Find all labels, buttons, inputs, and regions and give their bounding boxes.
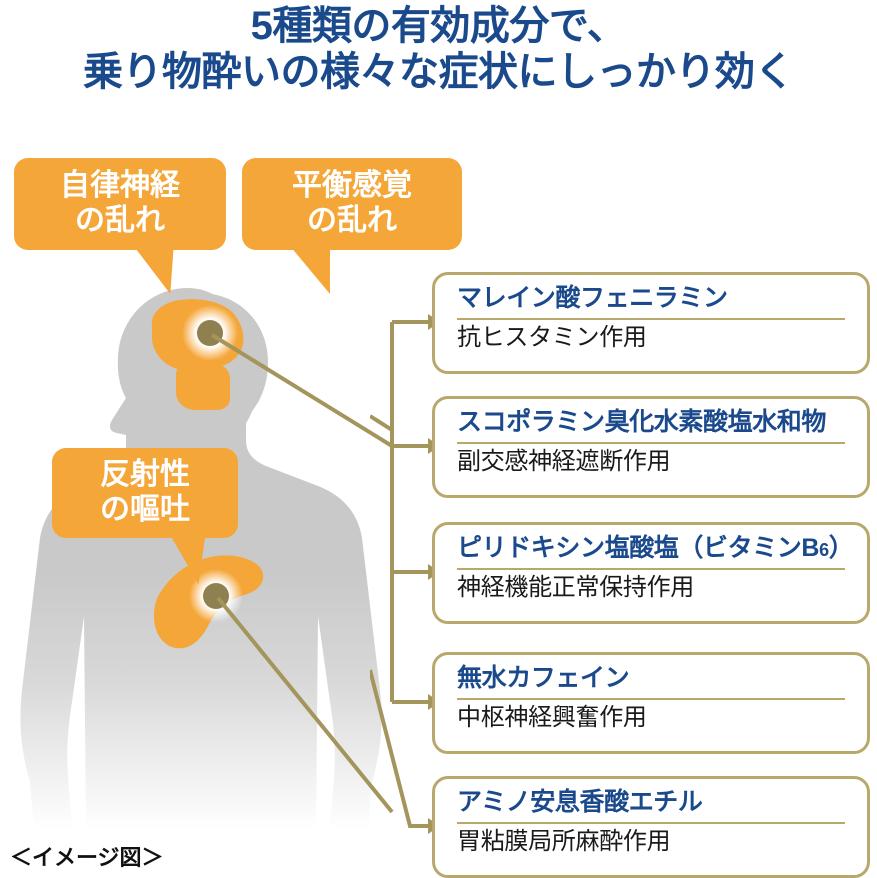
image-disclaimer-note: ＜イメージ図＞ bbox=[10, 840, 164, 872]
ingredient-name-1: マレイン酸フェニラミン bbox=[457, 284, 851, 314]
bubble-balance-sense-disorder: 平衡感覚 の乱れ bbox=[242, 158, 462, 250]
bubble-autonomic-line-2: の乱れ bbox=[75, 204, 165, 239]
card-divider-5 bbox=[457, 822, 845, 824]
brain-marker-dot bbox=[197, 320, 223, 346]
ingredient-name-2: スコポラミン臭化水素酸塩水和物 bbox=[457, 408, 851, 438]
ingredient-name-3-prefix: ピリドキシン塩酸塩（ビタミンB bbox=[457, 534, 819, 562]
card-divider-2 bbox=[457, 442, 845, 444]
ingredient-name-5: アミノ安息香酸エチル bbox=[457, 788, 851, 818]
infographic-root: 5種類の有効成分で、 乗り物酔いの様々な症状にしっかり効く bbox=[0, 0, 877, 877]
ingredient-effect-2: 副交感神経遮断作用 bbox=[457, 448, 851, 477]
ingredient-card-3: ピリドキシン塩酸塩（ビタミンB6） 神経機能正常保持作用 bbox=[432, 522, 870, 624]
card-divider-4 bbox=[457, 698, 845, 700]
ingredient-effect-1: 抗ヒスタミン作用 bbox=[457, 324, 851, 353]
ingredient-name-3: ピリドキシン塩酸塩（ビタミンB6） bbox=[457, 534, 851, 564]
bubble-vomit-line-2: の嘔吐 bbox=[100, 493, 190, 528]
bubble-autonomic-nerve-disorder: 自律神経 の乱れ bbox=[14, 158, 226, 250]
ingredient-effect-4: 中枢神経興奮作用 bbox=[457, 704, 851, 733]
ingredient-card-5: アミノ安息香酸エチル 胃粘膜局所麻酔作用 bbox=[432, 776, 870, 878]
ingredient-name-3-suffix: ） bbox=[829, 534, 854, 562]
page-title: 5種類の有効成分で、 乗り物酔いの様々な症状にしっかり効く bbox=[0, 4, 877, 95]
title-line-2: 乗り物酔いの様々な症状にしっかり効く bbox=[0, 50, 877, 96]
bubble-balance-line-2: の乱れ bbox=[307, 204, 397, 239]
title-line-1: 5種類の有効成分で、 bbox=[0, 4, 877, 50]
bubble-vomit-tail bbox=[162, 534, 205, 584]
ingredient-name-3-subscript: 6 bbox=[819, 540, 829, 560]
connector-branch-5 bbox=[370, 670, 428, 826]
ingredient-card-4: 無水カフェイン 中枢神経興奮作用 bbox=[432, 652, 870, 754]
ingredient-effect-3: 神経機能正常保持作用 bbox=[457, 574, 851, 603]
bubble-autonomic-line-1: 自律神経 bbox=[60, 169, 180, 204]
bubble-autonomic-tail bbox=[130, 246, 173, 294]
bubble-reflex-vomiting: 反射性 の嘔吐 bbox=[52, 448, 238, 538]
ingredient-effect-5: 胃粘膜局所麻酔作用 bbox=[457, 828, 851, 857]
ingredient-name-4: 無水カフェイン bbox=[457, 664, 851, 694]
ingredient-card-2: スコポラミン臭化水素酸塩水和物 副交感神経遮断作用 bbox=[432, 396, 870, 498]
ingredient-card-1: マレイン酸フェニラミン 抗ヒスタミン作用 bbox=[432, 272, 870, 374]
bubble-balance-line-1: 平衡感覚 bbox=[292, 169, 412, 204]
bubble-balance-tail bbox=[290, 246, 330, 294]
card-divider-3 bbox=[457, 568, 845, 570]
bubble-vomit-line-1: 反射性 bbox=[100, 458, 190, 493]
connector-brain-feed bbox=[370, 416, 392, 430]
card-divider-1 bbox=[457, 318, 845, 320]
